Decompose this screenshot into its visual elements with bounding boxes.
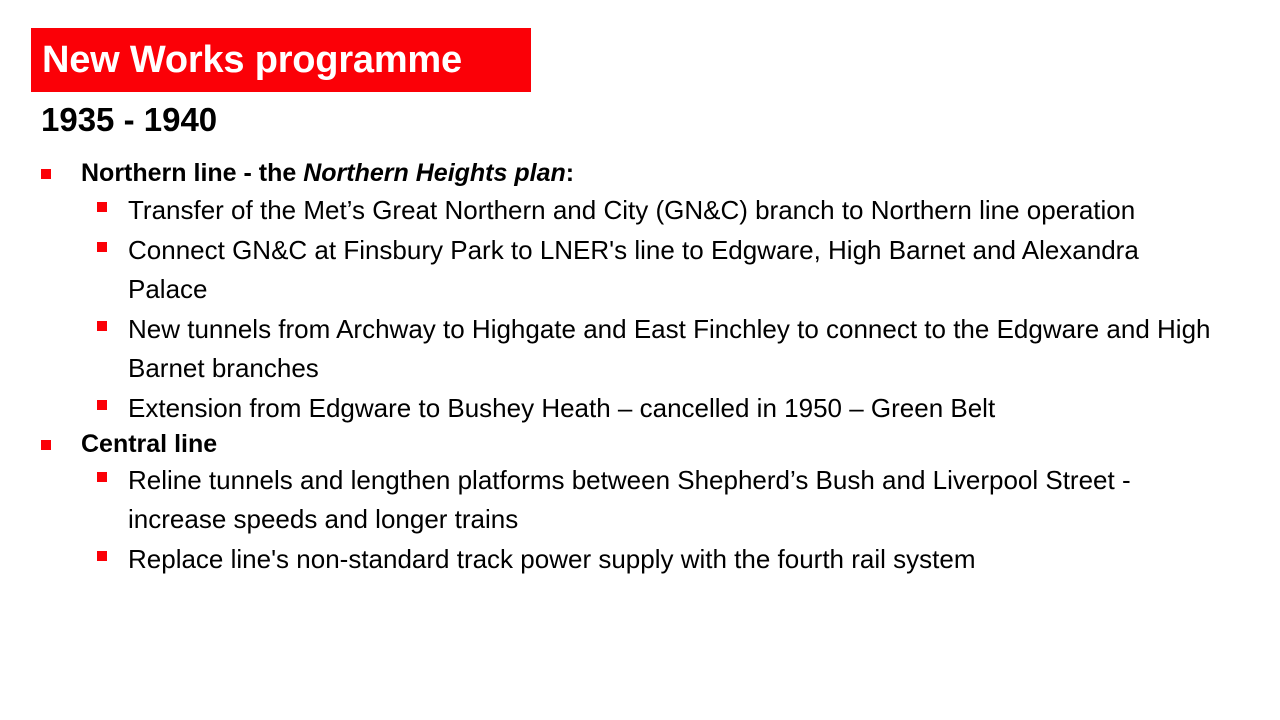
list-item-label: New tunnels from Archway to Highgate and… — [128, 310, 1223, 388]
list-item-label: Connect GN&C at Finsbury Park to LNER's … — [128, 231, 1223, 309]
list-item: Northern line - the Northern Heights pla… — [41, 158, 1241, 189]
bullet-marker-icon — [41, 440, 51, 450]
list-item-text-lead: Northern line - the — [81, 159, 303, 187]
list-item-label: Central line — [81, 429, 217, 460]
list-item: New tunnels from Archway to Highgate and… — [41, 310, 1241, 388]
bullet-list: Northern line - the Northern Heights pla… — [41, 158, 1241, 580]
bullet-marker-icon — [41, 169, 51, 179]
bullet-marker-icon — [97, 551, 107, 561]
bullet-marker-icon — [97, 472, 107, 482]
bullet-marker-icon — [97, 202, 107, 212]
list-item-text-emphasis: Northern Heights plan — [303, 159, 566, 187]
list-item-label: Northern line - the Northern Heights pla… — [81, 158, 574, 189]
list-item-label: Extension from Edgware to Bushey Heath –… — [128, 389, 995, 428]
list-item-label: Replace line's non-standard track power … — [128, 540, 975, 579]
bullet-marker-icon — [97, 321, 107, 331]
bullet-marker-icon — [97, 242, 107, 252]
list-item: Transfer of the Met’s Great Northern and… — [41, 191, 1241, 230]
list-item: Central line — [41, 429, 1241, 460]
title-banner: New Works programme — [31, 28, 531, 92]
list-item-label: Reline tunnels and lengthen platforms be… — [128, 461, 1223, 539]
list-item: Reline tunnels and lengthen platforms be… — [41, 461, 1241, 539]
list-item-text-tail: : — [566, 159, 574, 187]
list-item: Replace line's non-standard track power … — [41, 540, 1241, 579]
slide-canvas: New Works programme 1935 - 1940 Northern… — [0, 0, 1280, 720]
bullet-marker-icon — [97, 400, 107, 410]
list-item: Extension from Edgware to Bushey Heath –… — [41, 389, 1241, 428]
list-item: Connect GN&C at Finsbury Park to LNER's … — [41, 231, 1241, 309]
slide-title: New Works programme — [42, 41, 462, 79]
slide-subtitle: 1935 - 1940 — [41, 102, 217, 138]
list-item-label: Transfer of the Met’s Great Northern and… — [128, 191, 1135, 230]
